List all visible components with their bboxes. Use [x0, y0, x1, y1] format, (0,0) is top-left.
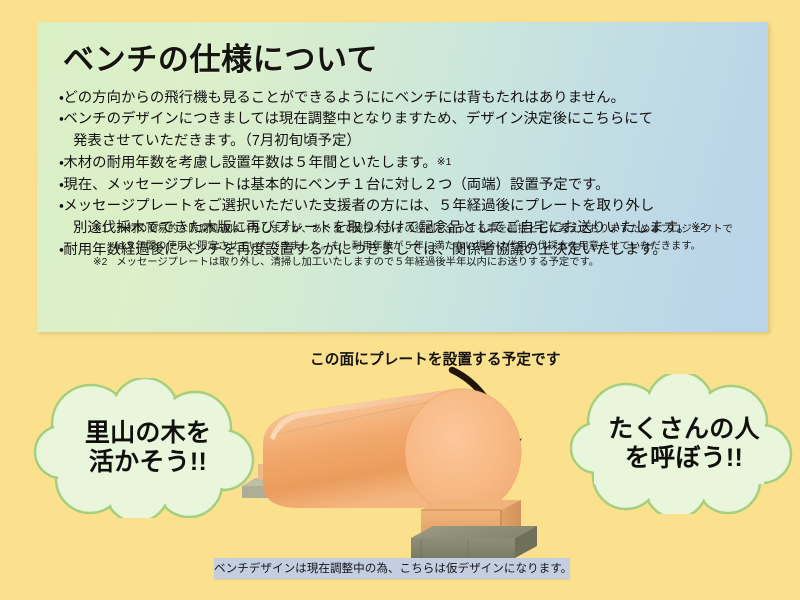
footnote-text: は５年間の使用と限定させていただきました。もし耐用年数が５年に満たない場合は代用… — [115, 241, 701, 252]
bench-3d-render — [225, 372, 570, 572]
footnote-list: ※1木材の簡易的な防腐処理はいたしますが、あくまで伐採木がその役割を全うする事を… — [93, 222, 753, 272]
bullet-text: 発表させていただきます。（7月初旬頃予定） — [73, 133, 361, 149]
footnote-item: ※1木材の簡易的な防腐処理はいたしますが、あくまで伐採木がその役割を全うする事を… — [93, 222, 753, 239]
footnote-ref: ※1 — [437, 156, 452, 168]
footnote-tag: ※2 — [93, 257, 107, 268]
cloud-shape-icon — [570, 374, 798, 514]
bullet-text: 現在、メッセージプレートは基本的にベンチ１台に対し２つ（両端）設置予定です。 — [63, 177, 609, 193]
bench-design-caption: ベンチデザインは現在調整中の為、こちらは仮デザインになります。 — [214, 558, 570, 579]
bench-footing-right — [411, 526, 537, 558]
bullet-text: 木材の耐用年数を考慮し設置年数は５年間といたします。 — [63, 155, 436, 171]
bench-end-cap — [405, 389, 521, 515]
spec-bullet-item: ・木材の耐用年数を考慮し設置年数は５年間といたします。※1 — [59, 152, 759, 174]
footnote-text: メッセージプレートは取り外し、清掃し加工いたしますので５年経過後半年以内にお送り… — [116, 257, 599, 268]
spec-bullet-item: ・どの方向からの飛行機も見ることができるようににベンチには背もたれはありません。 — [59, 88, 759, 109]
bullet-text: どの方向からの飛行機も見ることができるようににベンチには背もたれはありません。 — [63, 90, 625, 106]
page-title: ベンチの仕様について — [63, 34, 378, 79]
footnote-text: 木材の簡易的な防腐処理はいたしますが、あくまで伐採木がその役割を全うする事を前提… — [116, 224, 732, 235]
poster-page: ベンチの仕様について ・どの方向からの飛行機も見ることができるようににベンチには… — [0, 0, 800, 600]
footnote-tag: ※1 — [93, 224, 107, 235]
footnote-item: ※2メッセージプレートは取り外し、清掃し加工いたしますので５年経過後半年以内にお… — [93, 255, 753, 272]
spec-bullet-item: ・現在、メッセージプレートは基本的にベンチ１台に対し２つ（両端）設置予定です。 — [59, 175, 759, 196]
spec-bullet-item: ・メッセージプレートをご選択いただいた支援者の方には、５年経過後にプレートを取り… — [59, 196, 759, 217]
spec-panel: ベンチの仕様について ・どの方向からの飛行機も見ることができるようににベンチには… — [37, 22, 768, 332]
spec-bullet-continuation: 発表させていただきます。（7月初旬頃予定） — [59, 131, 759, 152]
bullet-text: ベンチのデザインにつきましては現在調整中となりますため、デザイン決定後にこちらに… — [63, 111, 653, 127]
bullet-text: メッセージプレートをご選択いただいた支援者の方には、５年経過後にプレートを取り外… — [63, 198, 654, 214]
footnote-continuation: は５年間の使用と限定させていただきました。もし耐用年数が５年に満たない場合は代用… — [93, 239, 753, 256]
spec-bullet-item: ・ベンチのデザインにつきましては現在調整中となりますため、デザイン決定後にこちら… — [59, 109, 759, 130]
illustration-section: この面にプレートを設置する予定です — [0, 334, 800, 600]
cloud-callout-right: たくさんの人 を呼ぼう!! — [570, 374, 798, 514]
